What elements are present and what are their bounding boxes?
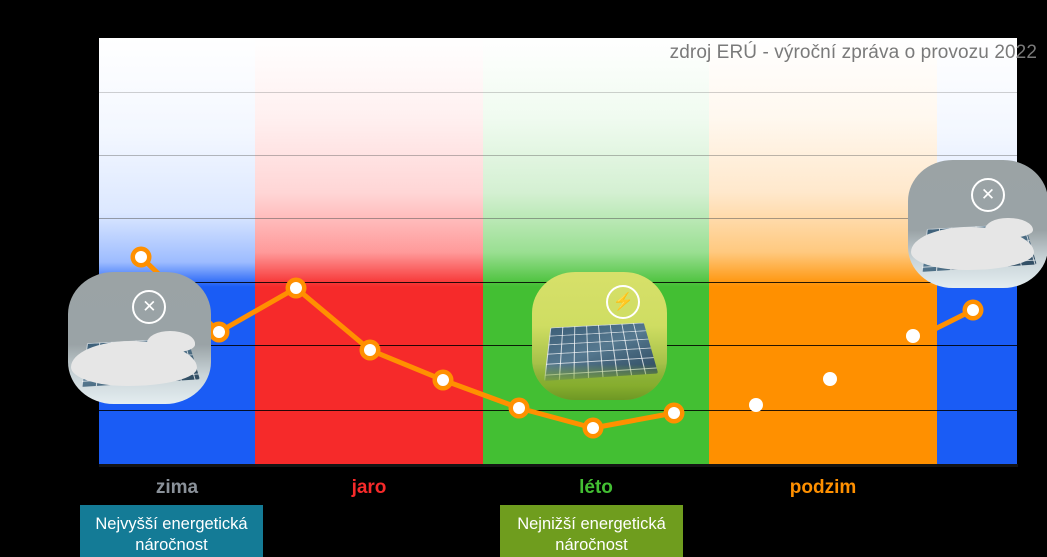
season-label-winter: zima: [99, 477, 255, 499]
season-band-autumn: [709, 38, 937, 465]
caption-highest: Nejvyšší energetická náročnost: [80, 505, 263, 557]
chart-plot-area: [99, 38, 1017, 465]
presentation-slide: zdroj ERÚ - výroční zpráva o provozu 202…: [0, 0, 1047, 557]
grid-line: [99, 92, 1017, 93]
season-band-fade: [483, 38, 709, 287]
season-band-fade: [99, 38, 255, 287]
season-band-solid: [709, 287, 937, 465]
season-band-summer: [483, 38, 709, 465]
callout-summer-center: ⚡: [532, 272, 667, 400]
season-band-fade: [709, 38, 937, 287]
season-label-autumn: podzim: [709, 477, 937, 499]
power-bolt-icon: ⚡: [606, 285, 640, 319]
season-label-spring: jaro: [255, 477, 483, 499]
no-production-icon: ✕: [971, 178, 1005, 212]
grid-line: [99, 155, 1017, 156]
grass-ground: [532, 364, 667, 400]
callout-winter-left: ✕: [68, 272, 211, 404]
snow-cover-secondary: [147, 331, 196, 352]
grid-line: [99, 218, 1017, 219]
season-band-fade: [255, 38, 483, 287]
grid-line: [99, 410, 1017, 411]
snow-cover-secondary: [985, 218, 1033, 238]
season-band-spring: [255, 38, 483, 465]
callout-winter-right: ✕: [908, 160, 1047, 288]
source-note: zdroj ERÚ - výroční zpráva o provozu 202…: [670, 42, 1037, 64]
season-band-solid: [937, 287, 1017, 465]
season-band-solid: [255, 287, 483, 465]
chart-x-axis: [99, 464, 1018, 467]
caption-lowest: Nejnižší energetická náročnost: [500, 505, 683, 557]
season-label-summer: léto: [483, 477, 709, 499]
